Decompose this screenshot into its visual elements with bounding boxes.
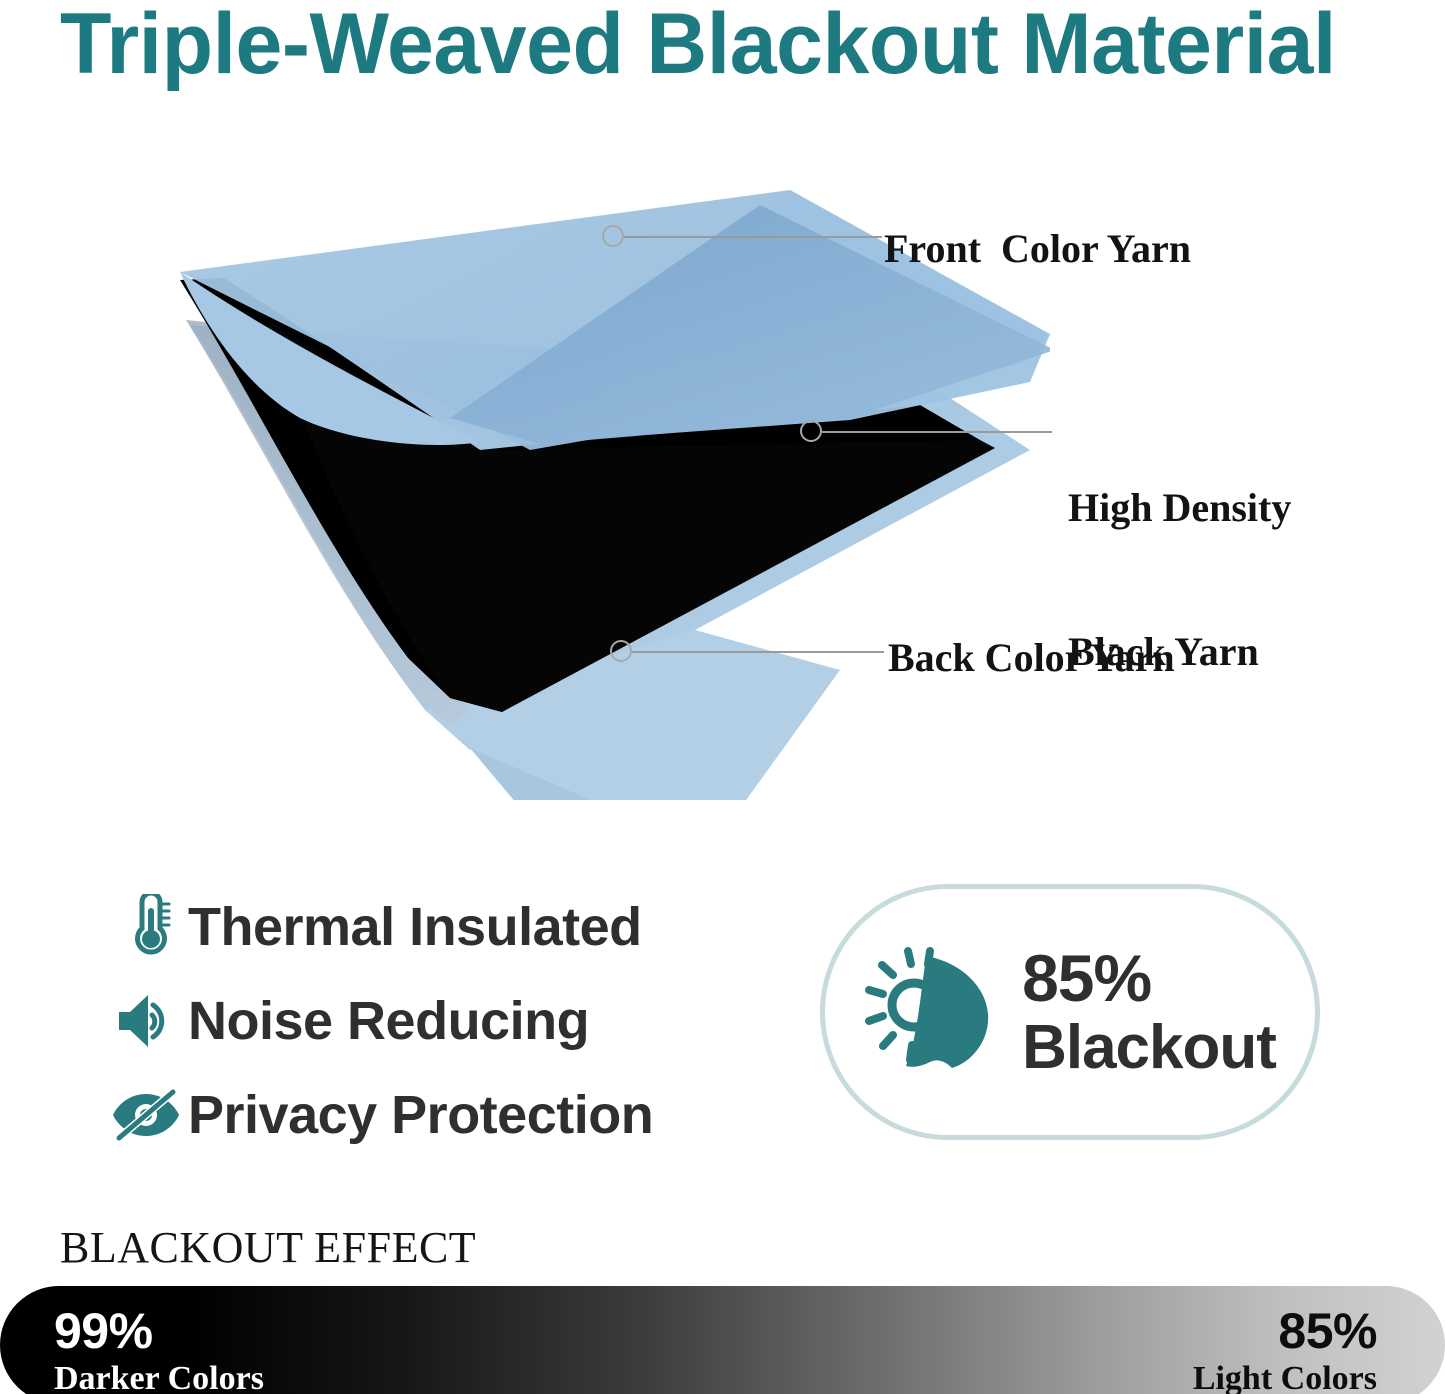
bar-percent-darker: 99% [54, 1306, 264, 1356]
feature-label-privacy: Privacy Protection [188, 1084, 653, 1146]
feature-item-privacy: Privacy Protection [104, 1068, 784, 1162]
bar-label-darker: 99% Darker Colors [54, 1306, 264, 1394]
blackout-percent-badge: 85% Blackout [820, 884, 1320, 1140]
leader-dot-icon-middle [800, 420, 822, 442]
page-title: Triple-Weaved Blackout Material [60, 0, 1373, 92]
feature-label-noise: Noise Reducing [188, 990, 589, 1052]
badge-text-group: 85% Blackout [1022, 945, 1276, 1079]
callout-high-density-black-yarn: High Density Black Yarn [1068, 388, 1291, 772]
blackout-effect-heading: BLACKOUT EFFECT [60, 1222, 476, 1273]
bar-label-light: 85% Light Colors [1193, 1306, 1377, 1394]
feature-item-thermal: Thermal Insulated [104, 880, 784, 974]
feature-item-noise: Noise Reducing [104, 974, 784, 1068]
bar-caption-light: Light Colors [1193, 1362, 1377, 1394]
leader-line-front [624, 236, 882, 238]
bar-caption-darker: Darker Colors [54, 1362, 264, 1394]
sun-blocked-icon [864, 942, 996, 1083]
callout-back-color-yarn: Back Color Yarn [888, 634, 1175, 682]
leader-line-back [632, 651, 884, 653]
leader-line-middle [822, 431, 1052, 433]
callout-line-1: High Density [1068, 484, 1291, 532]
feature-list: Thermal Insulated Noise Reducing [104, 880, 784, 1162]
speaker-sound-icon [104, 991, 188, 1051]
blackout-effect-gradient-bar: 99% Darker Colors 85% Light Colors [0, 1286, 1445, 1394]
thermometer-icon [104, 894, 188, 960]
badge-word: Blackout [1022, 1017, 1276, 1079]
feature-label-thermal: Thermal Insulated [188, 896, 642, 958]
badge-percent: 85% [1022, 945, 1276, 1011]
callout-front-color-yarn: Front Color Yarn [884, 225, 1191, 273]
leader-dot-icon-front [602, 225, 624, 247]
infographic-page: Triple-Weaved Blackout Material [0, 0, 1445, 1394]
bar-percent-light: 85% [1193, 1306, 1377, 1356]
leader-dot-icon-back [610, 640, 632, 662]
eye-slash-icon [104, 1088, 188, 1142]
